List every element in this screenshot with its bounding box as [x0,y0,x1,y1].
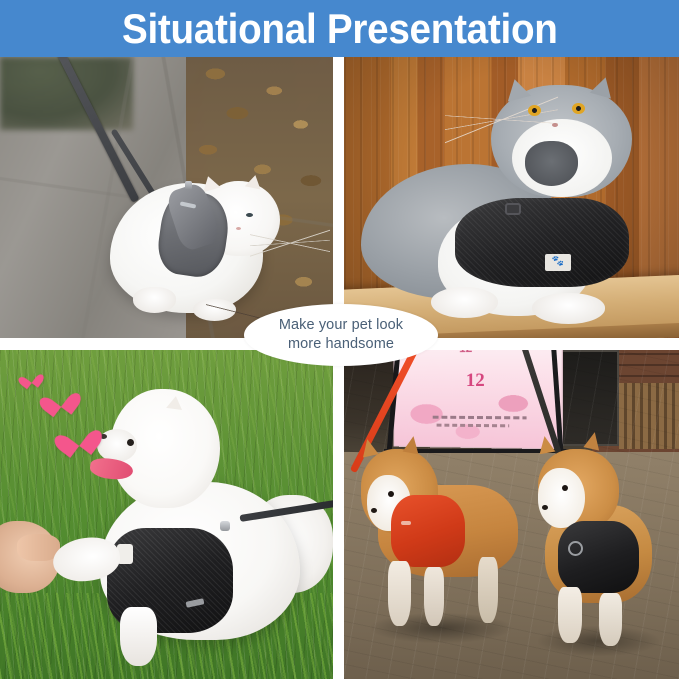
heart-icon [61,420,95,454]
photo-cat-on-leash-path [0,57,333,338]
corgi-left-ear-right [403,434,422,454]
black-harness [558,521,638,593]
photo-bottom-left [0,350,333,679]
corgi-right-nose [542,505,548,510]
corgi-right-face-white [538,468,585,527]
cat-whiskers [445,91,559,147]
signboard-top-number: 12 [459,350,472,354]
cat-nose [552,123,558,127]
harness-mesh-texture [455,198,629,288]
heart-icon [45,385,74,414]
title-banner: Situational Presentation [0,0,679,57]
photo-two-corgi-puppies: 12 12 [344,350,679,679]
corgi-right-front-leg-2 [599,593,622,646]
corgi-right-front-leg-1 [558,587,581,643]
dog-eye [127,439,134,446]
photo-top-right: 🐾 [344,57,679,338]
corgi-right-eye [562,485,568,491]
corgi-right-ear-left [537,434,556,454]
heart-icon [22,369,40,387]
harness-leash-clip [220,521,230,531]
cat-eye-left [528,105,541,116]
corgi-left-front-leg-1 [388,561,411,627]
photo-bottom-right: 12 12 [344,350,679,679]
corgi-left-front-leg-2 [424,567,444,626]
product-situational-presentation-poster: Situational Presentation [0,0,679,679]
corgi-left-nose [371,508,377,513]
signboard-text-line-1 [433,416,527,420]
photo-pomeranian-on-grass [0,350,333,679]
dog-front-leg [120,607,157,666]
red-harness [391,495,465,567]
harness-brand-tag: 🐾 [545,254,571,271]
signboard-text-line-2 [436,423,509,427]
callout-text: Make your pet look more handsome [279,316,403,353]
red-harness-reflective-strip [401,521,411,525]
corgi-left-hind-leg [478,557,498,623]
sakura-signboard: 12 12 [393,350,562,449]
paw-print-icon: 🐾 [552,257,564,267]
cat-whiskers [250,220,330,265]
signboard-number: 12 [466,370,485,389]
photo-cat-on-wooden-shelf: 🐾 [344,57,679,338]
dog-ear [166,395,184,410]
photo-top-left [0,57,333,338]
cat-paw-front-left [133,287,176,312]
cat-paw-front-right [532,293,606,324]
harness-d-ring [505,203,521,215]
photo-grid: 🐾 [0,57,679,679]
harness-leash-clip [185,181,192,190]
corgi-left-ear-left [359,437,378,457]
page-title: Situational Presentation [122,8,558,50]
callout-bubble: Make your pet look more handsome [244,304,438,366]
